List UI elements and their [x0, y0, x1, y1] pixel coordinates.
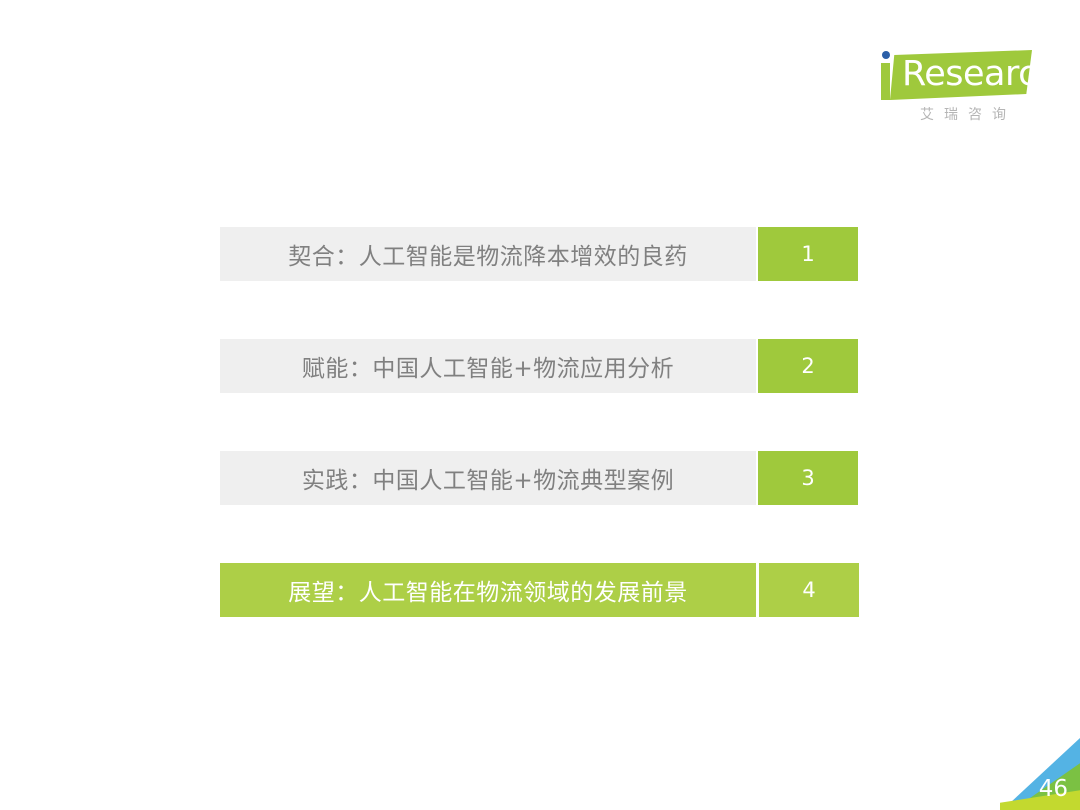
logo-i-stem-icon: [881, 63, 890, 100]
agenda-row-3-title: 实践：中国人工智能+物流典型案例: [220, 451, 756, 505]
corner-decoration: 46: [1000, 720, 1080, 810]
logo-wordmark: Research: [902, 53, 1059, 95]
agenda-row-4-title: 展望：人工智能在物流领域的发展前景: [220, 563, 756, 617]
page-number: 46: [1039, 776, 1068, 802]
logo-subtitle: 艾瑞咨询: [892, 104, 1034, 124]
agenda-row-1-title: 契合：人工智能是物流降本增效的良药: [220, 227, 756, 281]
agenda-row-2-title: 赋能：中国人工智能+物流应用分析: [220, 339, 756, 393]
agenda-row-1-number: 1: [758, 227, 858, 281]
agenda-row-4[interactable]: 展望：人工智能在物流领域的发展前景 4: [220, 563, 858, 617]
logo-i-dot-icon: [882, 51, 890, 59]
agenda-row-3[interactable]: 实践：中国人工智能+物流典型案例 3: [220, 451, 858, 505]
agenda-row-1[interactable]: 契合：人工智能是物流降本增效的良药 1: [220, 227, 858, 281]
logo-banner: Research: [872, 48, 1032, 104]
agenda-row-3-number: 3: [758, 451, 858, 505]
agenda-row-2[interactable]: 赋能：中国人工智能+物流应用分析 2: [220, 339, 858, 393]
agenda-row-4-number: 4: [759, 563, 859, 617]
iresearch-logo: Research 艾瑞咨询: [872, 48, 1032, 136]
agenda-list: 契合：人工智能是物流降本增效的良药 1 赋能：中国人工智能+物流应用分析 2 实…: [220, 227, 858, 617]
agenda-row-2-number: 2: [758, 339, 858, 393]
